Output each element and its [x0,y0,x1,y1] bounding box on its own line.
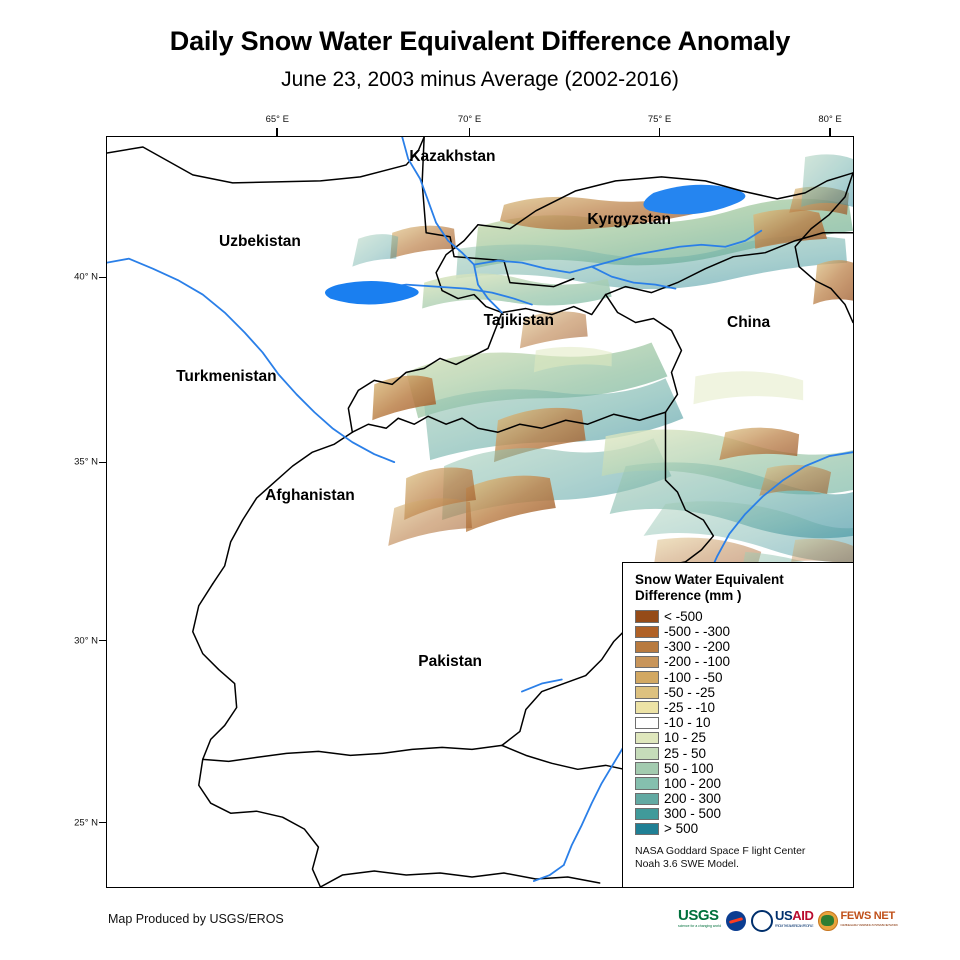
legend-title-line2: Difference (mm ) [635,588,742,603]
usaid-seal-icon [751,910,773,932]
fews-net-logo[interactable]: FEWS NET FAMINE EARLY WARNING SYSTEMS NE… [818,910,897,932]
map-canvas[interactable]: KazakhstanKyrgyzstanUzbekistanTajikistan… [106,136,854,888]
legend-color-swatch [635,808,659,821]
usgs-logo-tagline: science for a changing world [678,921,721,932]
country-label-pakistan: Pakistan [418,653,482,671]
legend-class-label: -25 - -10 [664,701,715,715]
legend-class-label: 300 - 500 [664,807,721,821]
latitude-tick-label: 40° N [56,272,98,283]
usaid-logo[interactable]: USAID FROM THE AMERICAN PEOPLE [751,910,813,932]
legend-class-row: 300 - 500 [635,806,854,821]
legend-class-label: 25 - 50 [664,747,706,761]
nasa-logo[interactable] [726,910,746,932]
usgs-logo[interactable]: USGS science for a changing world [678,910,721,932]
legend-class-label: -50 - -25 [664,686,715,700]
legend-class-label: > 500 [664,822,698,836]
legend-color-swatch [635,823,659,836]
usaid-logo-tagline: FROM THE AMERICAN PEOPLE [775,921,813,931]
legend-class-label: 50 - 100 [664,762,714,776]
legend-color-swatch [635,732,659,745]
legend-color-swatch [635,701,659,714]
country-label-afghanistan: Afghanistan [265,487,355,505]
latitude-tick-label: 25° N [56,817,98,828]
legend-color-swatch [635,793,659,806]
legend-class-label: -10 - 10 [664,716,711,730]
legend-class-label: -300 - -200 [664,640,730,654]
legend-class-row: 10 - 25 [635,731,854,746]
legend-class-row: 25 - 50 [635,746,854,761]
legend-class-row: < -500 [635,609,854,624]
legend-color-swatch [635,747,659,760]
legend-color-swatch [635,777,659,790]
country-label-turkmenistan: Turkmenistan [176,368,277,386]
legend-credit-line1: NASA Goddard Space F light Center [635,845,854,859]
country-label-kazakhstan: Kazakhstan [409,148,495,166]
longitude-tick-label: 70° E [458,114,481,125]
legend-color-swatch [635,656,659,669]
country-label-uzbekistan: Uzbekistan [219,233,301,251]
longitude-tick-label: 80° E [818,114,841,125]
logo-strip: USGS science for a changing world USAID … [678,906,898,936]
map-legend[interactable]: Snow Water Equivalent Difference (mm ) <… [622,562,854,888]
page-subtitle: June 23, 2003 minus Average (2002-2016) [0,68,960,92]
legend-class-row: -500 - -300 [635,624,854,639]
country-label-kyrgyzstan: Kyrgyzstan [587,211,671,229]
latitude-tick-label: 30° N [56,635,98,646]
legend-credit: NASA Goddard Space F light Center Noah 3… [635,845,854,872]
legend-class-label: -200 - -100 [664,655,730,669]
page-title: Daily Snow Water Equivalent Difference A… [0,26,960,57]
legend-class-row: 50 - 100 [635,761,854,776]
legend-class-row: 200 - 300 [635,791,854,806]
legend-class-row: -200 - -100 [635,655,854,670]
legend-credit-line2: Noah 3.6 SWE Model. [635,858,854,872]
country-label-china: China [727,314,770,332]
legend-class-row: -10 - 10 [635,715,854,730]
legend-class-label: -500 - -300 [664,625,730,639]
legend-class-row: > 500 [635,822,854,837]
legend-class-label: 200 - 300 [664,792,721,806]
legend-class-label: 10 - 25 [664,731,706,745]
legend-color-swatch [635,641,659,654]
legend-title-line1: Snow Water Equivalent [635,572,784,587]
nasa-meatball-icon [726,911,746,931]
legend-class-row: -25 - -10 [635,700,854,715]
legend-color-swatch [635,762,659,775]
legend-class-row: 100 - 200 [635,776,854,791]
legend-color-swatch [635,610,659,623]
fews-net-logo-tagline: FAMINE EARLY WARNING SYSTEMS NETWORK [840,921,897,930]
longitude-tick-label: 65° E [266,114,289,125]
legend-class-row: -50 - -25 [635,685,854,700]
fews-globe-icon [818,911,838,931]
legend-color-swatch [635,717,659,730]
country-label-tajikistan: Tajikistan [484,312,554,330]
legend-color-swatch [635,626,659,639]
legend-class-label: 100 - 200 [664,777,721,791]
legend-class-row: -100 - -50 [635,670,854,685]
legend-class-list: < -500-500 - -300-300 - -200-200 - -100-… [635,609,854,837]
latitude-tick-label: 35° N [56,457,98,468]
legend-class-label: -100 - -50 [664,671,723,685]
map-page: Daily Snow Water Equivalent Difference A… [0,0,960,960]
longitude-tick-label: 75° E [648,114,671,125]
legend-color-swatch [635,671,659,684]
legend-title: Snow Water Equivalent Difference (mm ) [623,563,854,604]
legend-class-label: < -500 [664,610,703,624]
map-credit: Map Produced by USGS/EROS [108,912,284,926]
legend-class-row: -300 - -200 [635,639,854,654]
legend-color-swatch [635,686,659,699]
